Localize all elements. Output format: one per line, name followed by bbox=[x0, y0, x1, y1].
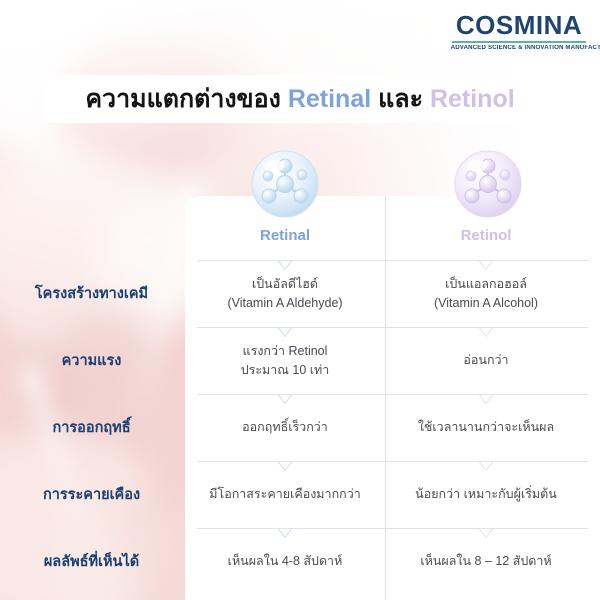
row-label-onset: การออกฤทธิ์ bbox=[0, 394, 183, 461]
title-lead: ความแตกต่างของ bbox=[85, 85, 288, 113]
cell-retinol-strength: อ่อนกว่า bbox=[386, 327, 586, 394]
page-title: ความแตกต่างของ Retinal และ Retinol bbox=[85, 87, 514, 112]
cell-retinol-chemical-structure: เป็นแอลกอฮอล์(Vitamin A Alcohol) bbox=[386, 260, 586, 327]
cell-retinol-onset: ใช้เวลานานกว่าจะเห็นผล bbox=[386, 394, 586, 461]
title-plate: ความแตกต่างของ Retinal และ Retinol bbox=[42, 75, 558, 123]
column-header-retinal: Retinal bbox=[185, 228, 385, 243]
table-row: การออกฤทธิ์ ออกฤทธิ์เร็วกว่า ใช้เวลานานก… bbox=[0, 394, 600, 461]
row-label-irritation: การระคายเคือง bbox=[0, 461, 183, 528]
brand-rule bbox=[452, 41, 586, 43]
column-header-retinol: Retinol bbox=[386, 228, 586, 243]
cell-retinal-onset: ออกฤทธิ์เร็วกว่า bbox=[185, 394, 385, 461]
table-row: ผลลัพธ์ที่เห็นได้ เห็นผลใน 4-8 สัปดาห์ เ… bbox=[0, 528, 600, 595]
table-row: การระคายเคือง มีโอกาสระคายเคืองมากกว่า น… bbox=[0, 461, 600, 528]
title-term-retinal: Retinal bbox=[288, 85, 371, 113]
infographic-canvas: COSMINA ADVANCED SCIENCE & INNOVATION MA… bbox=[0, 0, 600, 600]
brand-logo: COSMINA ADVANCED SCIENCE & INNOVATION MA… bbox=[452, 12, 586, 52]
cell-retinal-chemical-structure: เป็นอัลดีไฮด์(Vitamin A Aldehyde) bbox=[185, 260, 385, 327]
row-label-strength: ความแรง bbox=[0, 327, 183, 394]
cell-retinal-strength: แรงกว่า Retinolประมาณ 10 เท่า bbox=[185, 327, 385, 394]
title-conjunction: และ bbox=[371, 85, 430, 113]
title-term-retinol: Retinol bbox=[430, 85, 515, 113]
comparison-table: โครงสร้างทางเคมี เป็นอัลดีไฮด์(Vitamin A… bbox=[0, 260, 600, 595]
brand-tagline: ADVANCED SCIENCE & INNOVATION MANUFACTUR… bbox=[451, 45, 588, 52]
row-label-chemical-structure: โครงสร้างทางเคมี bbox=[0, 260, 183, 327]
molecule-sphere-icon bbox=[249, 148, 321, 220]
cell-retinal-visible-results: เห็นผลใน 4-8 สัปดาห์ bbox=[185, 528, 385, 595]
cell-retinol-visible-results: เห็นผลใน 8 – 12 สัปดาห์ bbox=[386, 528, 586, 595]
brand-name: COSMINA bbox=[452, 12, 586, 38]
row-label-visible-results: ผลลัพธ์ที่เห็นได้ bbox=[0, 528, 183, 595]
cell-retinal-irritation: มีโอกาสระคายเคืองมากกว่า bbox=[185, 461, 385, 528]
molecule-sphere-icon bbox=[452, 148, 524, 220]
table-row: โครงสร้างทางเคมี เป็นอัลดีไฮด์(Vitamin A… bbox=[0, 260, 600, 327]
cell-retinol-irritation: น้อยกว่า เหมาะกับผู้เริ่มต้น bbox=[386, 461, 586, 528]
table-row: ความแรง แรงกว่า Retinolประมาณ 10 เท่า อ่… bbox=[0, 327, 600, 394]
